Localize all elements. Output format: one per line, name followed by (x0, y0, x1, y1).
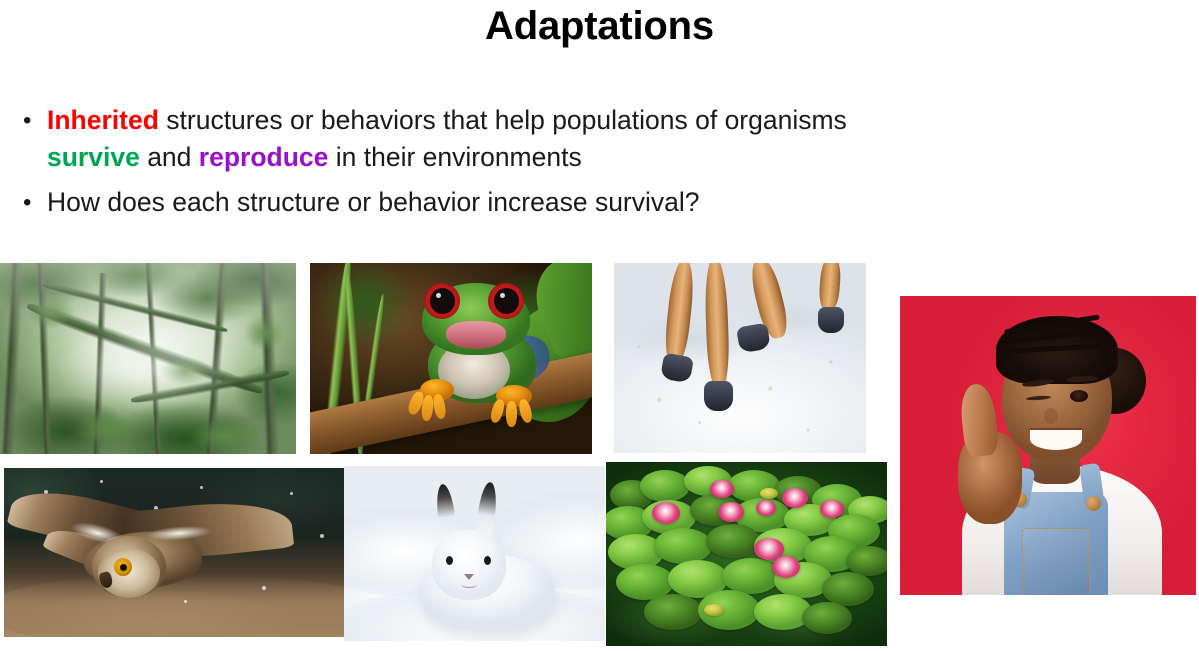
keyword-reproduce: reproduce (199, 142, 329, 172)
page-title: Adaptations (0, 2, 1199, 50)
bullet-glyph-icon: • (23, 184, 31, 221)
bullet-glyph-icon: • (23, 102, 31, 139)
bullet-list: • Inherited structures or behaviors that… (18, 102, 918, 229)
bullet-segment-plain-3: in their environments (328, 142, 581, 172)
keyword-inherited: Inherited (47, 105, 159, 135)
photo-snowshoe-hare (344, 466, 605, 641)
photo-lily-pads (606, 462, 887, 646)
photo-owl-in-flight (4, 468, 345, 637)
bullet-segment-plain-2: and (140, 142, 199, 172)
list-item: • How does each structure or behavior in… (18, 184, 918, 221)
list-item: • Inherited structures or behaviors that… (18, 102, 918, 176)
bullet-segment-plain-1: structures or behaviors that help popula… (159, 105, 847, 135)
bullet-text-question: How does each structure or behavior incr… (47, 187, 700, 217)
photo-tree-frog (310, 263, 592, 454)
photo-rainforest (0, 263, 296, 454)
keyword-survive: survive (47, 142, 140, 172)
photo-girl-thumbs-up (900, 296, 1196, 595)
photo-deer-legs-in-snow (614, 263, 866, 453)
bullet-text-definition: Inherited structures or behaviors that h… (47, 105, 847, 172)
